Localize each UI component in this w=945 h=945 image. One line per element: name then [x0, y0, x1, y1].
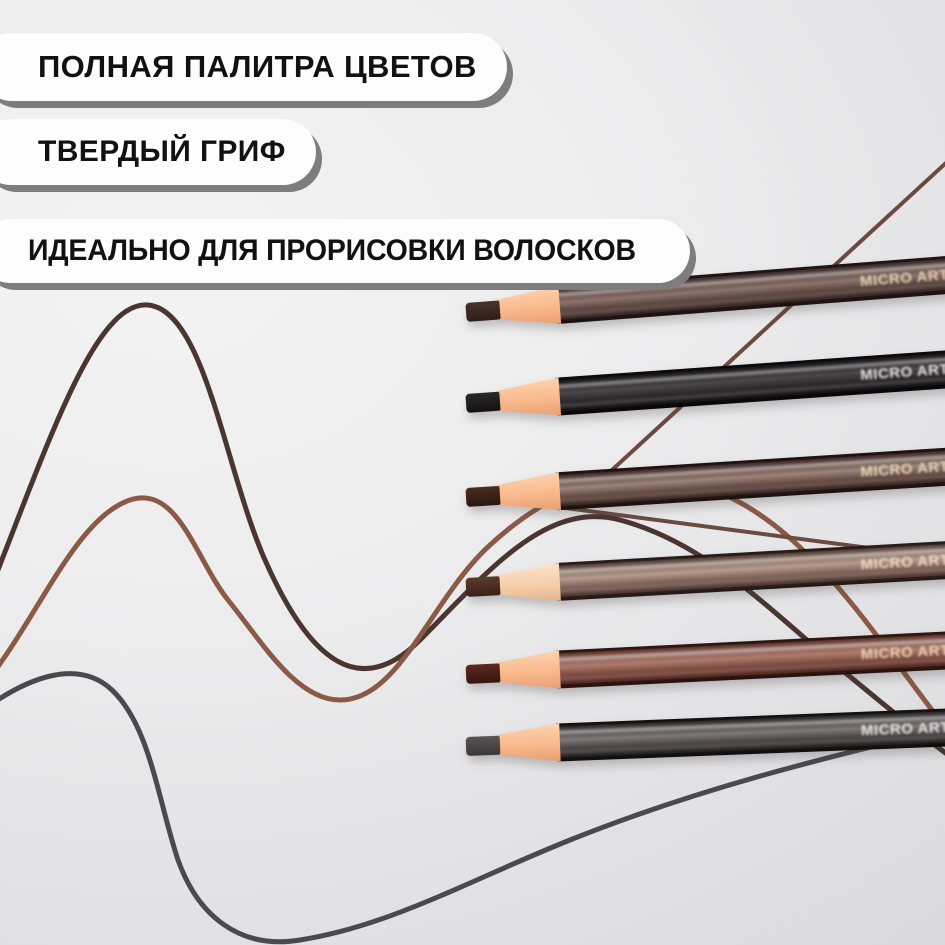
feature-badge-palette-label: ПОЛНАЯ ПАЛИТРА ЦВЕТОВ [38, 49, 477, 85]
pencil-wood-cone [497, 723, 560, 763]
feature-badge-hairstrokes-label: ИДЕАЛЬНО ДЛЯ ПРОРИСОВКИ ВОЛОСКОВ [28, 234, 636, 268]
pencil-wood-cone [497, 650, 561, 691]
feature-badge-hardness[interactable]: ТВЕРДЫЙ ГРИФ [0, 119, 316, 185]
pencil-tip [465, 485, 500, 506]
pencil-wood-cone [497, 563, 561, 604]
pencil-tip [465, 576, 500, 597]
pencil-wood-cone [497, 377, 561, 419]
pencil-tip [465, 300, 500, 322]
feature-badge-hardness-label: ТВЕРДЫЙ ГРИФ [38, 135, 286, 169]
feature-badge-hairstrokes[interactable]: ИДЕАЛЬНО ДЛЯ ПРОРИСОВКИ ВОЛОСКОВ [0, 219, 690, 283]
pencil-tip [466, 663, 501, 684]
pencil-tip [465, 391, 500, 412]
promo-banner: MICRO ART" CO MICRO ART" CO MICRO ART" C… [0, 0, 945, 945]
pencil-wood-cone [497, 472, 561, 514]
pencil-wood-cone [496, 286, 561, 329]
feature-badge-palette[interactable]: ПОЛНАЯ ПАЛИТРА ЦВЕТОВ [0, 33, 507, 101]
pencil-tip [466, 735, 501, 755]
